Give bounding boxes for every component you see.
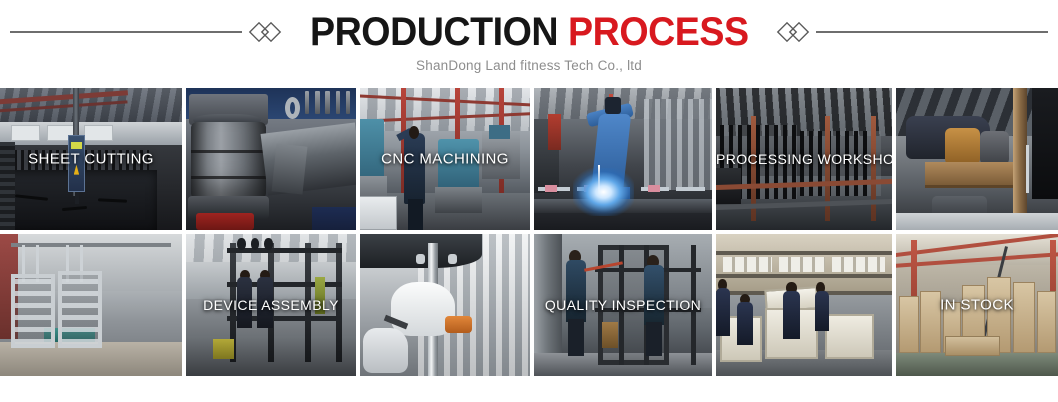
process-gallery: SHEET CUTTING CNC MACHINING [0, 88, 1058, 376]
page-title: PRODUCTION PROCESS [297, 12, 762, 52]
gallery-row-1: SHEET CUTTING CNC MACHINING [0, 88, 1058, 230]
page-title-primary: PRODUCTION [310, 10, 558, 54]
page-header: PRODUCTION PROCESS ShanDong Land fitness… [0, 0, 1058, 88]
panel-robot-welding[interactable] [534, 88, 712, 230]
photo-stacked-welded-frames [0, 234, 182, 376]
panel-cnc-machining[interactable]: CNC MACHINING [360, 88, 530, 230]
panel-in-stock[interactable]: IN STOCK [896, 234, 1058, 376]
photo-workers-packing-wooden-crates [716, 234, 892, 376]
gallery-row-2: DEVICE ASSEMBLY QUALITY INSPECTION [0, 234, 1058, 376]
photo-workers-inspecting-machine [534, 234, 712, 376]
panel-sheet-cutting[interactable]: SHEET CUTTING [0, 88, 182, 230]
panel-material-handling[interactable] [896, 88, 1058, 230]
company-subtitle: ShanDong Land fitness Tech Co., ltd [0, 58, 1058, 73]
photo-gloved-hands-wooden-fixture [896, 88, 1058, 230]
photo-warehouse-stacked-cartons [896, 234, 1058, 376]
photo-robotic-arc-welding-cell [534, 88, 712, 230]
double-diamond-ornament-left [248, 19, 282, 45]
title-row: PRODUCTION PROCESS [0, 6, 1058, 58]
panel-surface-finishing[interactable] [360, 234, 530, 376]
panel-welded-frames[interactable] [0, 234, 182, 376]
panel-processing-workshop[interactable]: PROCESSING WORKSHOP [716, 88, 892, 230]
page-title-accent: PROCESS [568, 10, 749, 54]
photo-cnc-machining-workshop [360, 88, 530, 230]
photo-cnc-plasma-cutting-table [0, 88, 182, 230]
panel-device-assembly[interactable]: DEVICE ASSEMBLY [186, 234, 356, 376]
photo-steel-frame-racks [716, 88, 892, 230]
photo-gloved-hand-polishing-chrome-post [360, 234, 530, 376]
photo-hydraulic-press-die-tooling [186, 88, 356, 230]
header-rule-right [816, 31, 1048, 33]
header-rule-left [10, 31, 242, 33]
photo-workers-assembling-gym-equipment [186, 234, 356, 376]
panel-press-forming[interactable] [186, 88, 356, 230]
panel-packing[interactable] [716, 234, 892, 376]
panel-quality-inspection[interactable]: QUALITY INSPECTION [534, 234, 712, 376]
double-diamond-ornament-right [776, 19, 810, 45]
